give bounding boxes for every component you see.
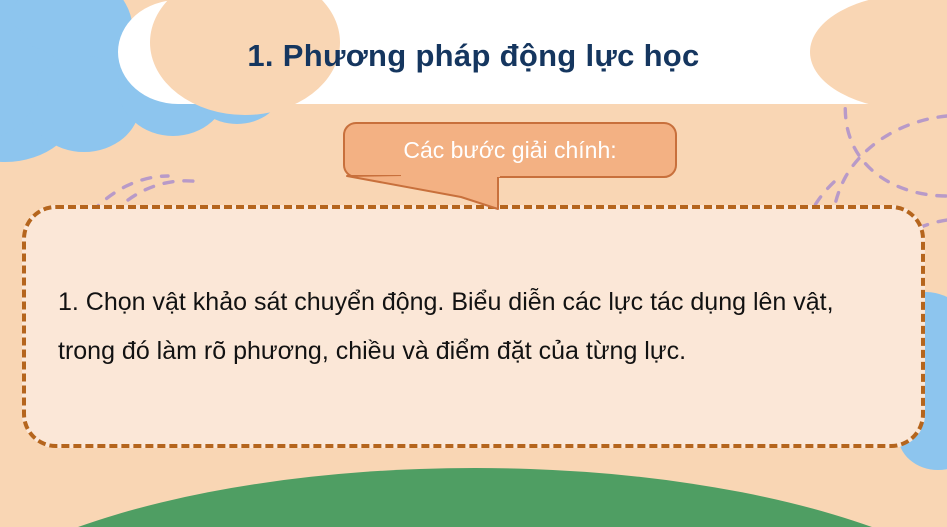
slide-canvas: 1. Phương pháp động lực học Các bước giả… xyxy=(0,0,947,527)
content-box: 1. Chọn vật khảo sát chuyển động. Biểu d… xyxy=(22,205,925,448)
speech-bubble: Các bước giải chính: xyxy=(343,122,677,178)
cloud-puff-icon xyxy=(0,14,40,140)
green-hill xyxy=(0,468,947,527)
page-title: 1. Phương pháp động lực học xyxy=(0,38,947,74)
content-body-text: 1. Chọn vật khảo sát chuyển động. Biểu d… xyxy=(26,278,921,376)
speech-bubble-body: Các bước giải chính: xyxy=(343,122,677,178)
speech-bubble-label: Các bước giải chính: xyxy=(403,139,616,162)
speech-bubble-tail-icon xyxy=(343,175,543,215)
